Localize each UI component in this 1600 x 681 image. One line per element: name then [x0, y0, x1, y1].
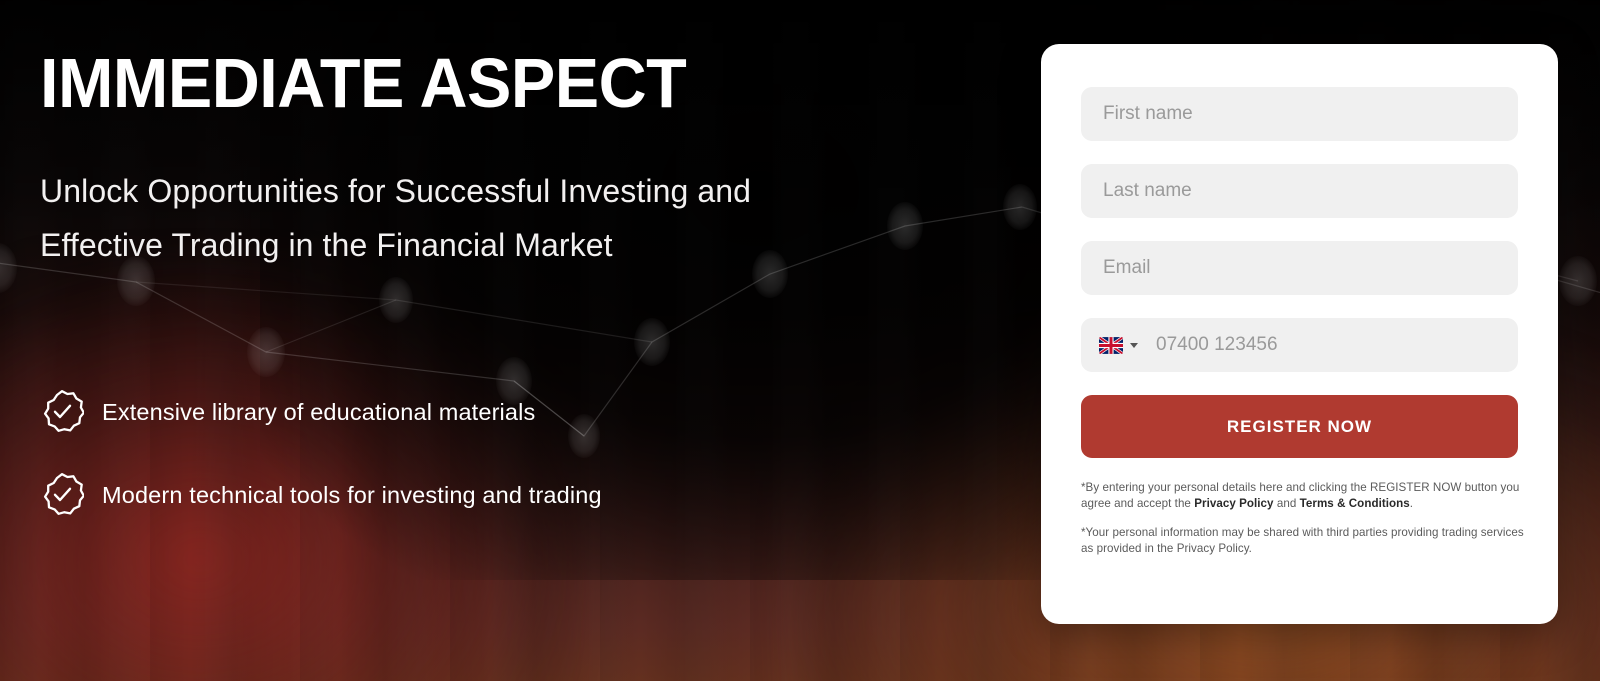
page-title: IMMEDIATE ASPECT	[40, 48, 686, 118]
phone-number-input[interactable]	[1156, 334, 1486, 356]
check-badge-icon	[40, 471, 84, 519]
list-item: Extensive library of educational materia…	[40, 388, 900, 436]
phone-field[interactable]	[1081, 318, 1518, 372]
legal-disclaimer-sharing: *Your personal information may be shared…	[1081, 525, 1528, 558]
list-item: Modern technical tools for investing and…	[40, 471, 900, 519]
terms-conditions-link[interactable]: Terms & Conditions	[1300, 497, 1410, 510]
hero-section: IMMEDIATE ASPECT Unlock Opportunities fo…	[0, 0, 1600, 681]
uk-flag-icon	[1099, 337, 1123, 354]
list-item-label: Modern technical tools for investing and…	[102, 481, 602, 509]
privacy-policy-link[interactable]: Privacy Policy	[1194, 497, 1273, 510]
last-name-input[interactable]	[1081, 164, 1518, 218]
register-now-button[interactable]: REGISTER NOW	[1081, 395, 1518, 458]
feature-list: Extensive library of educational materia…	[40, 388, 900, 554]
hero-subtitle: Unlock Opportunities for Successful Inve…	[40, 165, 780, 273]
email-input[interactable]	[1081, 241, 1518, 295]
country-selector[interactable]	[1099, 337, 1138, 354]
legal-text-mid: and	[1274, 497, 1300, 510]
first-name-input[interactable]	[1081, 87, 1518, 141]
hero-copy: IMMEDIATE ASPECT Unlock Opportunities fo…	[40, 0, 1020, 681]
legal-text-suffix: .	[1410, 497, 1413, 510]
legal-disclaimer-consent: *By entering your personal details here …	[1081, 480, 1528, 513]
check-badge-icon	[40, 388, 84, 436]
registration-form-card: REGISTER NOW *By entering your personal …	[1041, 44, 1558, 624]
list-item-label: Extensive library of educational materia…	[102, 398, 535, 426]
chevron-down-icon	[1130, 343, 1138, 348]
